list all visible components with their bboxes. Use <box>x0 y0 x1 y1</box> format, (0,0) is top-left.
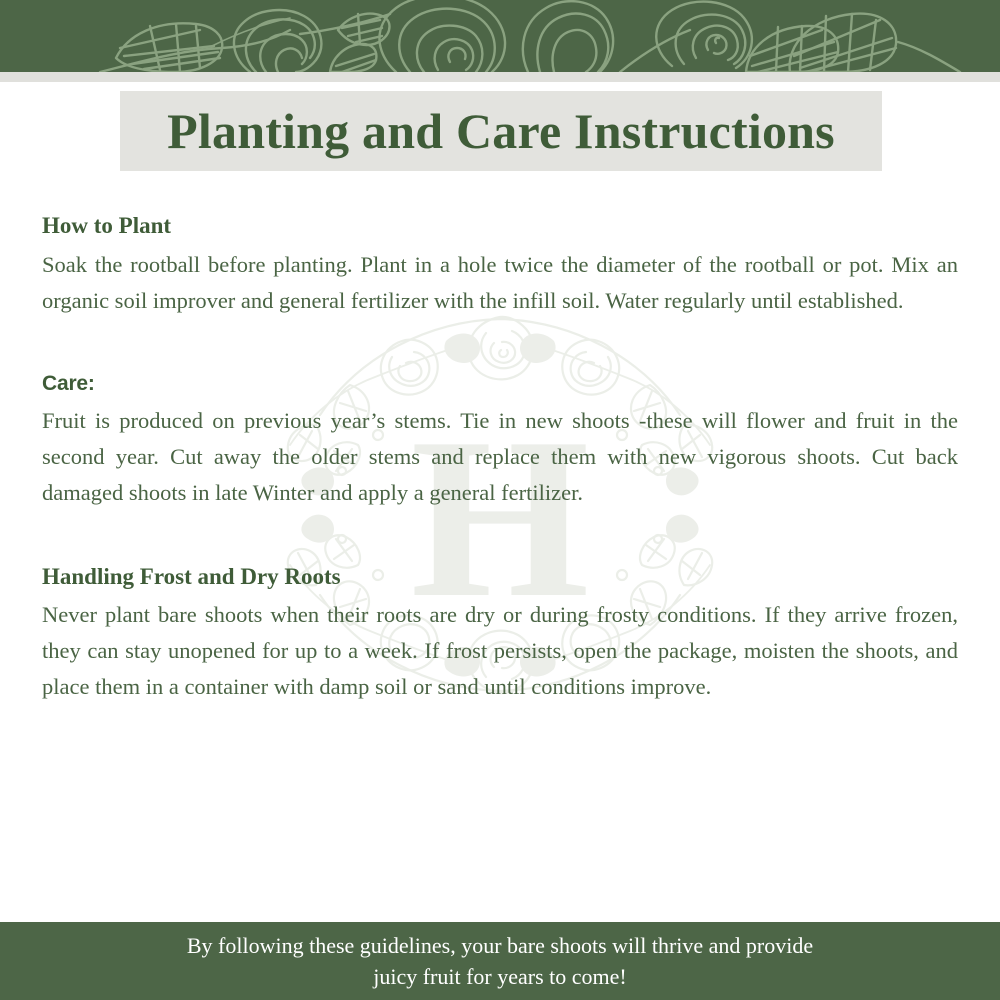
section-body: Soak the rootball before planting. Plant… <box>42 247 958 319</box>
section-how-to-plant: How to Plant Soak the rootball before pl… <box>42 212 958 319</box>
section-body: Fruit is produced on previous year’s ste… <box>42 403 958 511</box>
page-title: Planting and Care Instructions <box>167 106 835 156</box>
footer-band: By following these guidelines, your bare… <box>0 922 1000 1000</box>
footer-line-1: By following these guidelines, your bare… <box>187 930 813 961</box>
rose-and-leaves-line-art-icon <box>0 0 1000 72</box>
section-heading: How to Plant <box>42 212 958 240</box>
header-band <box>0 0 1000 72</box>
header-divider-rule <box>0 72 1000 82</box>
section-heading: Handling Frost and Dry Roots <box>42 563 958 591</box>
footer-line-2: juicy fruit for years to come! <box>373 961 627 992</box>
section-handling-frost-and-dry-roots: Handling Frost and Dry Roots Never plant… <box>42 563 958 706</box>
page-title-band: Planting and Care Instructions <box>120 91 882 171</box>
section-heading: Care: <box>42 371 958 396</box>
section-care: Care: Fruit is produced on previous year… <box>42 371 958 511</box>
section-body: Never plant bare shoots when their roots… <box>42 597 958 705</box>
instructions-content: How to Plant Soak the rootball before pl… <box>42 212 958 705</box>
document-page: H <box>0 0 1000 1000</box>
